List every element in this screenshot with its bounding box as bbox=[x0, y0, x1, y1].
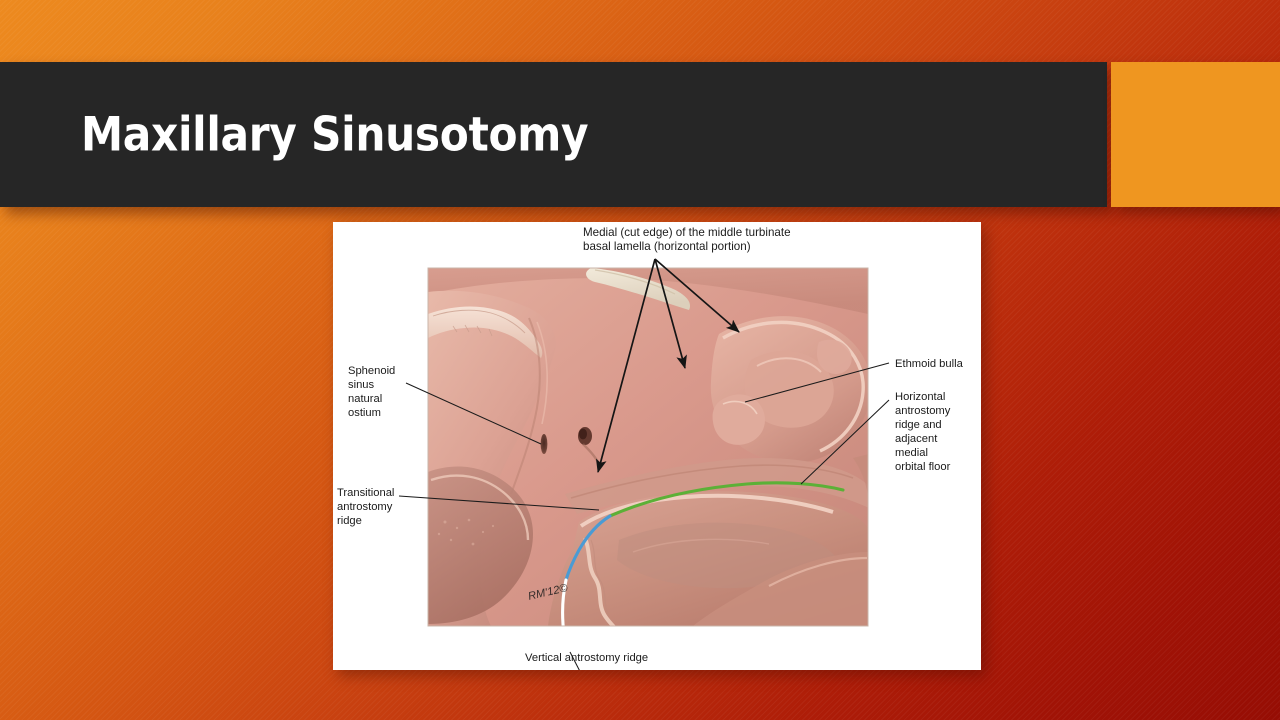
vertical-antrostomy-ridge-label: Vertical antrostomy ridge bbox=[525, 652, 648, 664]
svg-text:medial: medial bbox=[895, 447, 928, 459]
svg-text:Vertical antrostomy ridge: Vertical antrostomy ridge bbox=[525, 652, 648, 664]
svg-text:antrostomy: antrostomy bbox=[337, 501, 393, 513]
svg-text:sinus: sinus bbox=[348, 379, 375, 391]
svg-text:Sphenoid: Sphenoid bbox=[348, 365, 395, 377]
svg-text:ridge and: ridge and bbox=[895, 419, 942, 431]
presentation-slide: Maxillary Sinusotomy bbox=[0, 0, 1280, 720]
svg-text:Transitional: Transitional bbox=[337, 487, 394, 499]
illustration-inset: RM'12© bbox=[428, 268, 871, 660]
svg-text:basal lamella (horizontal port: basal lamella (horizontal portion) bbox=[583, 240, 751, 253]
svg-text:ridge: ridge bbox=[337, 515, 362, 527]
horizontal-antrostomy-ridge-label: Horizontal antrostomy ridge and adjacent… bbox=[895, 391, 951, 473]
svg-text:Ethmoid bulla: Ethmoid bulla bbox=[895, 358, 964, 370]
figure-frame: RM'12© bbox=[333, 222, 981, 670]
medial-cut-edge-label: Medial (cut edge) of the middle turbinat… bbox=[583, 226, 791, 253]
sphenoid-ostium-mark bbox=[541, 434, 548, 454]
accent-block bbox=[1111, 62, 1280, 207]
svg-text:adjacent: adjacent bbox=[895, 433, 938, 445]
svg-text:antrostomy: antrostomy bbox=[895, 405, 951, 417]
svg-text:Horizontal: Horizontal bbox=[895, 391, 945, 403]
svg-text:orbital floor: orbital floor bbox=[895, 461, 951, 473]
title-bar: Maxillary Sinusotomy bbox=[0, 62, 1107, 207]
anatomy-figure: RM'12© bbox=[333, 222, 981, 670]
svg-text:ostium: ostium bbox=[348, 407, 381, 419]
transitional-antrostomy-ridge-label: Transitional antrostomy ridge bbox=[337, 487, 394, 527]
page-title: Maxillary Sinusotomy bbox=[81, 107, 588, 162]
svg-text:Medial (cut edge) of the middl: Medial (cut edge) of the middle turbinat… bbox=[583, 226, 791, 239]
ethmoid-bulla-label: Ethmoid bulla bbox=[895, 358, 964, 370]
sphenoid-sinus-ostium-label: Sphenoid sinus natural ostium bbox=[348, 365, 395, 419]
svg-text:natural: natural bbox=[348, 393, 382, 405]
